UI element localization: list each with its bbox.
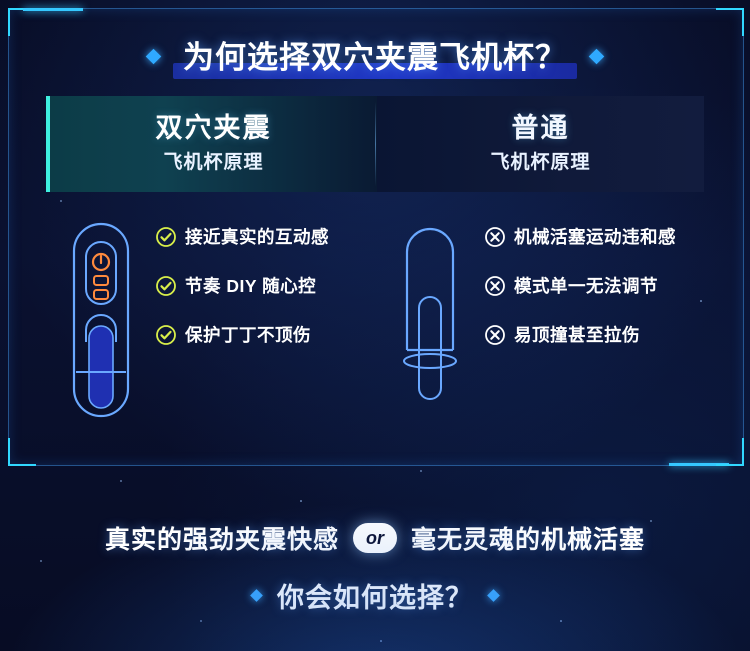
compare-header-divider xyxy=(375,102,376,186)
compare-left-bullets: 接近真实的互动感 节奏 DIY 随心控 保护丁丁不顶伤 xyxy=(156,210,375,371)
cup-device-dual-icon xyxy=(46,210,156,420)
check-circle-icon xyxy=(156,325,176,345)
cross-circle-icon xyxy=(485,227,505,247)
check-circle-icon xyxy=(156,227,176,247)
compare-body-row: 接近真实的互动感 节奏 DIY 随心控 保护丁丁不顶伤 xyxy=(46,210,704,440)
list-item: 保护丁丁不顶伤 xyxy=(156,322,375,347)
list-item-label: 保护丁丁不顶伤 xyxy=(185,322,311,347)
page-title-box: 为何选择双穴夹震飞机杯？ xyxy=(173,30,577,83)
footer-area: 真实的强劲夹震快感 or 毫无灵魂的机械活塞 你会如何选择？ xyxy=(0,520,750,615)
list-item: 接近真实的互动感 xyxy=(156,224,375,249)
compare-left-subtitle: 飞机杯原理 xyxy=(163,147,263,174)
poster-root: 为何选择双穴夹震飞机杯？ 双穴夹震 飞机杯原理 普通 飞机杯原理 xyxy=(0,0,750,651)
footer-line-2: 你会如何选择？ xyxy=(252,576,498,615)
list-item-label: 易顶撞甚至拉伤 xyxy=(514,322,640,347)
cross-circle-icon xyxy=(485,276,505,296)
list-item-label: 节奏 DIY 随心控 xyxy=(185,273,316,298)
diamond-right-small-icon xyxy=(487,589,500,602)
diamond-right-icon xyxy=(589,49,605,65)
diamond-left-icon xyxy=(146,49,162,65)
list-item: 机械活塞运动违和感 xyxy=(485,224,704,249)
list-item-label: 接近真实的互动感 xyxy=(185,224,329,249)
compare-header-row: 双穴夹震 飞机杯原理 普通 飞机杯原理 xyxy=(46,96,704,192)
list-item: 节奏 DIY 随心控 xyxy=(156,273,375,298)
list-item: 易顶撞甚至拉伤 xyxy=(485,322,704,347)
compare-header-right: 普通 飞机杯原理 xyxy=(377,96,704,192)
footer-line-1: 真实的强劲夹震快感 or 毫无灵魂的机械活塞 xyxy=(105,520,645,556)
footer-left-text: 真实的强劲夹震快感 xyxy=(105,520,339,556)
frame-notch-bottom xyxy=(669,463,729,466)
compare-left-title: 双穴夹震 xyxy=(156,114,272,144)
compare-right-bullets: 机械活塞运动违和感 模式单一无法调节 易顶撞甚至拉伤 xyxy=(485,210,704,371)
compare-body-right: 机械活塞运动违和感 模式单一无法调节 易顶撞甚至拉伤 xyxy=(375,210,704,440)
list-item-label: 机械活塞运动违和感 xyxy=(514,224,676,249)
list-item: 模式单一无法调节 xyxy=(485,273,704,298)
page-title-area: 为何选择双穴夹震飞机杯？ xyxy=(0,30,750,83)
compare-body-left: 接近真实的互动感 节奏 DIY 随心控 保护丁丁不顶伤 xyxy=(46,210,375,440)
diamond-left-small-icon xyxy=(250,589,263,602)
compare-header-left: 双穴夹震 飞机杯原理 xyxy=(46,96,377,192)
page-title: 为何选择双穴夹震飞机杯？ xyxy=(183,40,567,75)
check-circle-icon xyxy=(156,276,176,296)
compare-right-subtitle: 飞机杯原理 xyxy=(490,147,590,174)
compare-right-title: 普通 xyxy=(512,114,570,144)
or-badge: or xyxy=(353,523,397,553)
page-title-row: 为何选择双穴夹震飞机杯？ xyxy=(148,30,602,83)
footer-question-text: 你会如何选择？ xyxy=(277,576,473,615)
cup-device-piston-icon xyxy=(375,210,485,435)
footer-right-text: 毫无灵魂的机械活塞 xyxy=(411,520,645,556)
cross-circle-icon xyxy=(485,325,505,345)
list-item-label: 模式单一无法调节 xyxy=(514,273,658,298)
frame-corner-bottom-left xyxy=(8,438,36,466)
frame-notch-top xyxy=(23,8,83,11)
